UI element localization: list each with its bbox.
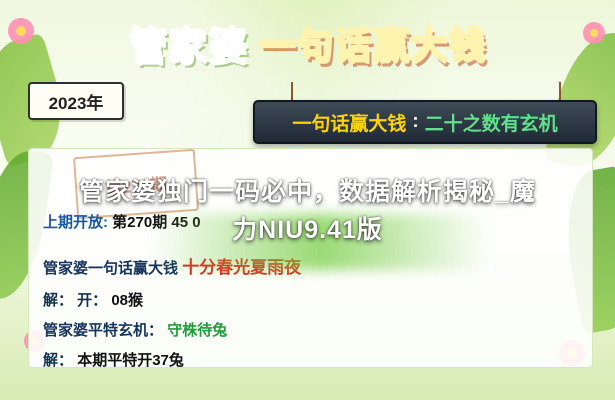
row-explanation-label: 解： <box>43 352 73 369</box>
green-blur-sweep <box>150 214 490 270</box>
row-open-result-label: 解： 开： <box>43 292 107 309</box>
ticket-watermark: 第271期 <box>73 149 199 219</box>
row-special-formula-value: 守株待兔 <box>167 322 227 339</box>
poster-image: 管家婆 一句话赢大钱 2023年 一句话赢大钱 : 二十之数有玄机 第271期 … <box>0 0 615 400</box>
poster-headline: 管家婆 一句话赢大钱 <box>0 6 615 78</box>
year-tag: 2023年 <box>28 82 124 120</box>
row-explanation-value: 本期平特开37兔 <box>77 352 184 369</box>
row-special-formula: 管家婆平特玄机： 守株待兔 <box>43 319 227 340</box>
sign-hanging-strings <box>261 82 591 102</box>
headline-brand: 管家婆 <box>128 15 248 70</box>
hanging-sign: 一句话赢大钱 : 二十之数有玄机 <box>253 100 597 144</box>
sign-text-slogan: 一句话赢大钱 <box>292 109 406 136</box>
headline-slogan: 一句话赢大钱 <box>259 16 487 68</box>
row-last-period-label: 上期开放: <box>43 214 108 231</box>
row-open-result-value: 08猴 <box>111 292 143 309</box>
row-special-formula-label: 管家婆平特玄机： <box>43 322 163 339</box>
sign-text-answer: 二十之数有玄机 <box>425 109 558 136</box>
sign-text-colon: : <box>412 111 418 133</box>
row-open-result: 解： 开： 08猴 <box>43 289 143 310</box>
row-explanation: 解： 本期平特开37兔 <box>43 349 184 370</box>
